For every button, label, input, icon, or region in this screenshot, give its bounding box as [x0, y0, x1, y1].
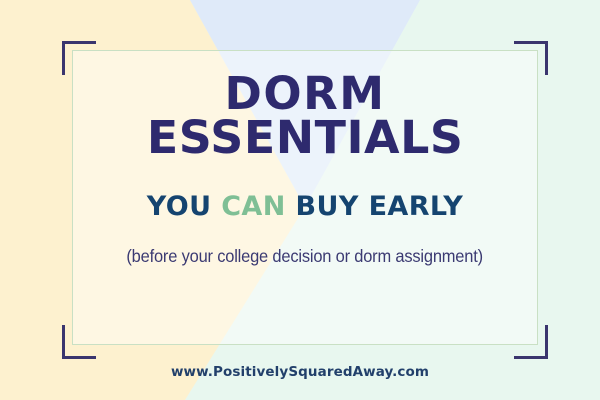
poster-content: DORM ESSENTIALS YOU CAN BUY EARLY (befor…	[72, 50, 538, 345]
poster-tagline: (before your college decision or dorm as…	[127, 246, 484, 267]
title-line-1: DORM	[150, 73, 460, 115]
poster-subtitle: YOU CAN BUY EARLY	[147, 191, 464, 222]
subtitle-highlight: CAN	[221, 191, 286, 222]
subtitle-part-1: YOU	[147, 191, 221, 222]
subtitle-part-2: BUY EARLY	[286, 191, 464, 222]
title-line-2: ESSENTIALS	[147, 117, 464, 159]
footer-website-url: www.PositivelySquaredAway.com	[0, 364, 600, 380]
poster-title: DORM ESSENTIALS	[150, 73, 460, 160]
poster-canvas: DORM ESSENTIALS YOU CAN BUY EARLY (befor…	[0, 0, 600, 400]
